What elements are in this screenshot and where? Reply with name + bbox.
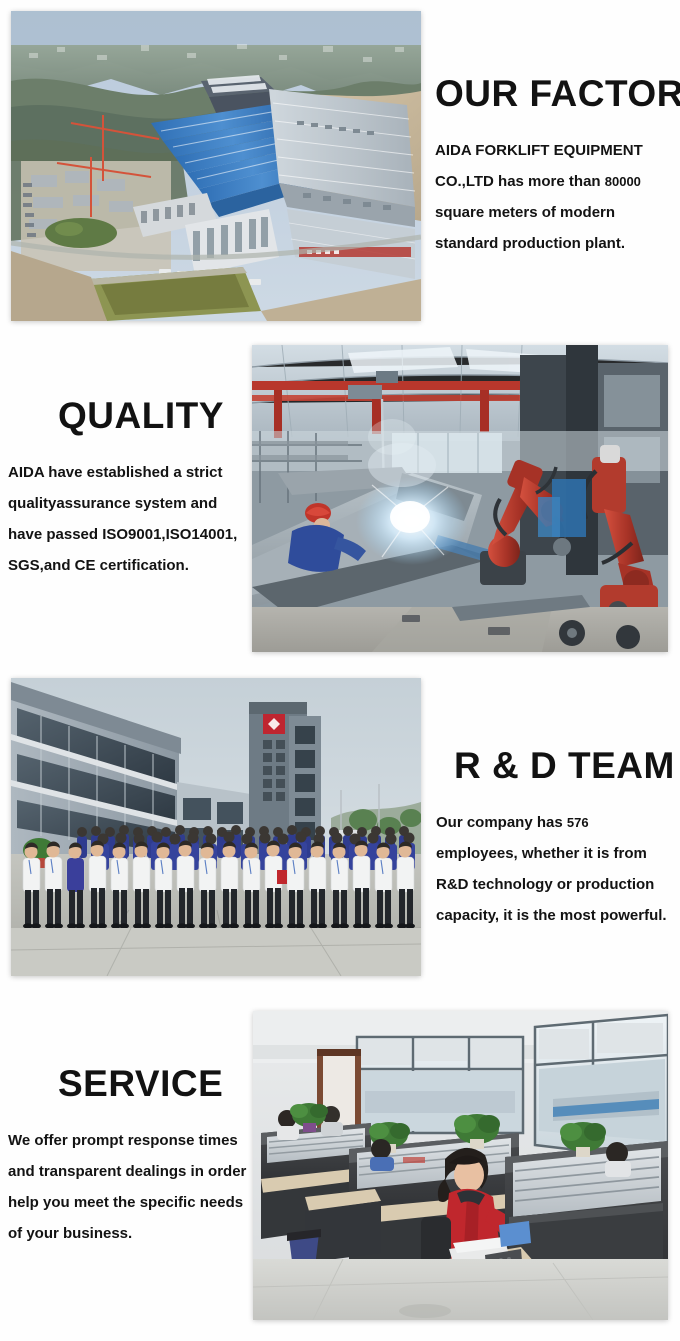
rd-heading: R & D TEAM: [454, 746, 674, 786]
factory-body-tail: square meters of modern standard product…: [435, 204, 625, 252]
company-profile-page: OUR FACTORY AIDA FORKLIFT EQUIPMENT CO.,…: [0, 0, 680, 1341]
rd-body: Our company has 576 employees, whether i…: [436, 807, 674, 931]
factory-heading: OUR FACTORY: [435, 74, 673, 114]
quality-text-block: QUALITY AIDA have established a strict q…: [8, 396, 254, 581]
service-body: We offer prompt response times and trans…: [8, 1125, 248, 1249]
aerial-factory-photo: [11, 11, 421, 321]
team-group-photo: [11, 678, 421, 976]
factory-body: AIDA FORKLIFT EQUIPMENT CO.,LTD has more…: [435, 135, 673, 259]
factory-text-block: OUR FACTORY AIDA FORKLIFT EQUIPMENT CO.,…: [435, 74, 673, 259]
office-cubicles-photo: [253, 1011, 668, 1320]
quality-body: AIDA have established a strict qualityas…: [8, 457, 254, 581]
service-text-block: SERVICE We offer prompt response times a…: [8, 1064, 248, 1249]
factory-area-value: 80000: [605, 174, 641, 189]
rd-body-tail: employees, whether it is from R&D techno…: [436, 845, 667, 924]
rd-text-block: R & D TEAM Our company has 576 employees…: [436, 746, 674, 931]
service-heading: SERVICE: [58, 1064, 248, 1104]
welding-robots-photo: [252, 345, 668, 652]
quality-heading: QUALITY: [58, 396, 254, 436]
rd-body-lead: Our company has: [436, 814, 567, 831]
rd-employee-count: 576: [567, 815, 589, 830]
